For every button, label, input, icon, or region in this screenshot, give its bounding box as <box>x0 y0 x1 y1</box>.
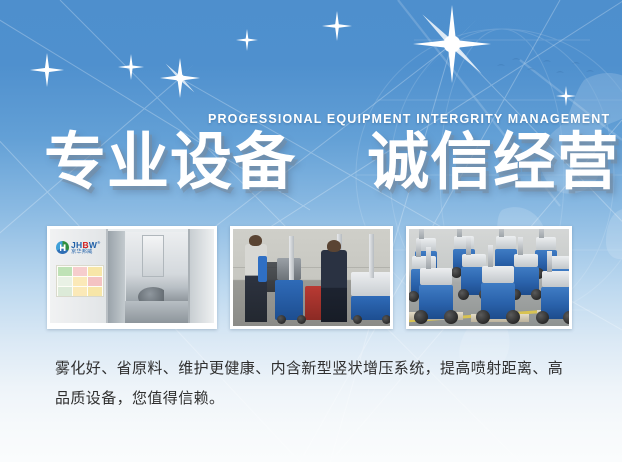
photo-cnc-machine-image: JHBW® 京华邦威 <box>50 229 214 323</box>
sparkle-star-icon <box>556 86 576 106</box>
photo-gallery: JHBW® 京华邦威 <box>47 226 572 329</box>
safety-label <box>56 265 104 297</box>
sparkle-star-icon <box>118 54 144 80</box>
sparkle-star-icon <box>160 58 200 98</box>
bird-flock-icon <box>497 58 594 73</box>
sparkle-star-icon <box>30 53 64 87</box>
headline-segment-two: 诚信经营 <box>367 125 619 198</box>
sparkle-star-icon <box>413 5 491 83</box>
banner-headline: 专业设备 诚信经营 <box>44 126 619 198</box>
registered-trademark-icon: ® <box>97 240 100 245</box>
promo-banner: PROGESSIONAL EQUIPMENT INTERGRITY MANAGE… <box>0 0 622 462</box>
photo-machine-inventory[interactable] <box>406 226 572 329</box>
sparkle-star-icon <box>236 29 258 51</box>
banner-subtitle-english: PROGESSIONAL EQUIPMENT INTERGRITY MANAGE… <box>208 112 610 126</box>
photo-cnc-machine[interactable]: JHBW® 京华邦威 <box>47 226 217 329</box>
photo-workers-equipment-image <box>233 229 390 326</box>
banner-caption: 雾化好、省原料、维护更健康、内含新型竖状增压系统，提高喷射距离、高品质设备，您值… <box>55 353 575 413</box>
jhbw-logo: JHBW® 京华邦威 <box>56 241 101 255</box>
jhbw-logo-chinese: 京华邦威 <box>71 250 101 255</box>
jhbw-logo-text: JHBW® 京华邦威 <box>71 241 101 255</box>
headline-segment-one: 专业设备 <box>44 125 296 198</box>
jhbw-logo-mark-icon <box>56 241 69 254</box>
photo-workers-equipment[interactable] <box>230 226 393 329</box>
photo-machine-inventory-image <box>409 229 569 326</box>
sparkle-star-icon <box>322 11 352 41</box>
